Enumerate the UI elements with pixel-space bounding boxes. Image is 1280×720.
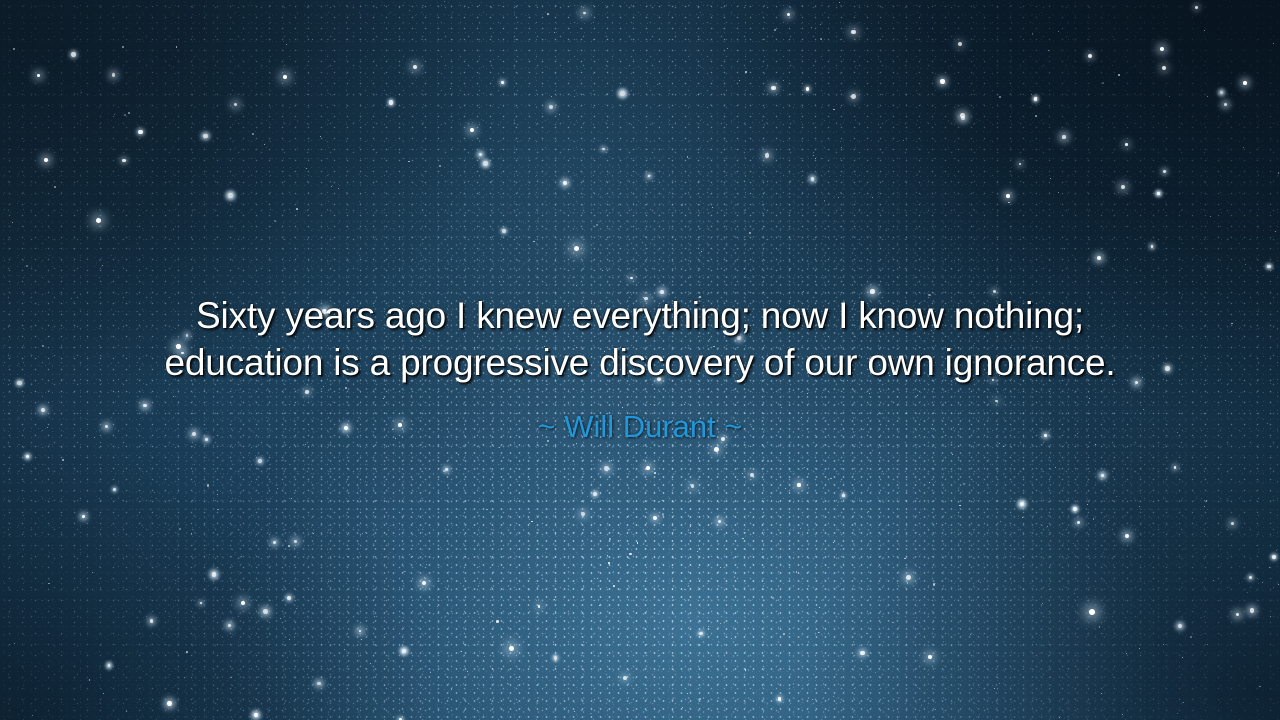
quote-image-canvas: Sixty years ago I knew everything; now I…	[0, 0, 1280, 720]
quote-line-1: Sixty years ago I knew everything; now I…	[60, 292, 1220, 339]
quote-attribution: ~ Will Durant ~	[0, 408, 1280, 446]
quote-line-2: education is a progressive discovery of …	[60, 339, 1220, 386]
quote-text-block: Sixty years ago I knew everything; now I…	[0, 292, 1280, 386]
